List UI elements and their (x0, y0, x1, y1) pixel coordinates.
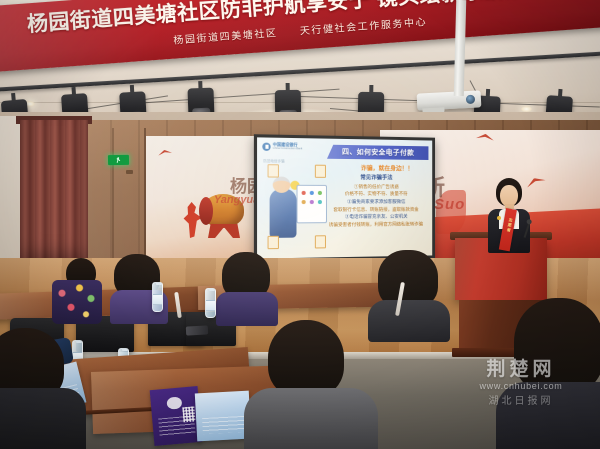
illustration-dot (302, 191, 306, 195)
list-item (372, 250, 444, 334)
brochure-lines (203, 416, 245, 434)
projection-screen-frame: 中国建设银行 China Construction Bank 防范电信诈骗 四、… (254, 134, 435, 262)
slide-subtitle: 诈骗，就在身边！！ (361, 163, 413, 172)
list-item (250, 320, 370, 449)
wall-vent (126, 170, 133, 174)
slide-body-line: ③电话诈骗冒充亲友、公安机关 (345, 214, 408, 221)
bird-icon (157, 149, 172, 159)
door-seam (112, 128, 114, 266)
slide-decor-card (268, 236, 279, 249)
event-photograph: 杨园街道四美塘社区防非护航享安宁 镜头绘就乐龄景活动 杨园街道四美塘社区 天行健… (0, 0, 600, 449)
exit-sign (108, 155, 129, 165)
slide-title: 四、如何安全电子付款 (342, 147, 414, 158)
brochure-graphic (167, 396, 182, 410)
illustration-figure-head (273, 177, 291, 193)
list-item (218, 252, 276, 322)
wall-left-plaster (0, 116, 22, 266)
attendee-body (0, 388, 86, 449)
slide-decor-card (315, 165, 326, 178)
slide-decor-card (315, 235, 326, 248)
slide-body-line: ①销售的低价广告诱惑 (354, 184, 399, 190)
stage-curtain (20, 120, 88, 268)
bottle-label (206, 300, 215, 311)
illustration-dot (302, 200, 306, 204)
ccb-logo-icon (262, 143, 270, 151)
banner-org-right: 天行健社会工作服务中心 (299, 17, 427, 37)
illustration-dot (310, 191, 314, 195)
slide-body-line: 价格不符、实物不符、质量不符 (345, 191, 408, 197)
mural-drum-stand (208, 224, 240, 238)
slide-body-line: 套取银行卡信息、转账链接，盗取账款资金 (333, 206, 418, 212)
speaker-badge (497, 216, 501, 220)
slide-brand-en: China Construction Bank (273, 148, 303, 151)
ceiling-projector (417, 90, 482, 110)
slide-body-heading: 常见诈骗手法 (360, 173, 392, 181)
slide-body-line: ②骗免商家要求添加客服微信 (347, 199, 405, 205)
attendee-head (514, 298, 600, 394)
list-item (0, 328, 78, 449)
backdrop-mural-left: 杨园 Yangyuan (146, 136, 268, 262)
illustration-tablet (296, 185, 326, 224)
slide-title-bar: 四、如何安全电子付款 (327, 145, 428, 160)
slide-body-line: 诱骗受害者付钱转账，利用官方网络私账转诈骗 (329, 221, 423, 228)
bird-icon (475, 133, 494, 144)
speaker-presenter: 志愿者 (482, 178, 536, 252)
brochure-lines (158, 416, 196, 438)
projector-lens-icon (466, 95, 475, 104)
illustration-dot (318, 200, 322, 204)
attendee-body (496, 382, 600, 449)
slide-body: 常见诈骗手法 ①销售的低价广告诱惑 价格不符、实物不符、质量不符 ②骗免商家要求… (323, 173, 428, 229)
illustration-elderly-figure (270, 189, 297, 238)
slide-mini-label: 防范电信诈骗 (263, 158, 284, 163)
mobile-phone[interactable] (186, 325, 208, 335)
attendee-body (244, 388, 378, 449)
list-item (52, 258, 104, 320)
attendee-head (268, 320, 344, 398)
bottle-label (153, 294, 162, 305)
attendee-clothing (52, 280, 102, 324)
slide-bank-logo: 中国建设银行 China Construction Bank (262, 143, 302, 152)
projection-screen: 中国建设银行 China Construction Bank 防范电信诈骗 四、… (257, 137, 432, 258)
illustration-dot (318, 191, 322, 195)
attendee-body (368, 300, 450, 342)
water-bottle[interactable] (205, 288, 216, 318)
banner-org-left: 杨园街道四美塘社区 (173, 28, 278, 47)
slide-brand-name: 中国建设银行 China Construction Bank (273, 143, 303, 151)
water-bottle[interactable] (152, 282, 163, 312)
list-item (510, 298, 600, 449)
running-man-icon (116, 157, 121, 163)
brochure[interactable] (195, 391, 251, 442)
illustration-dot (310, 200, 314, 204)
slide-decor-card (268, 164, 279, 177)
